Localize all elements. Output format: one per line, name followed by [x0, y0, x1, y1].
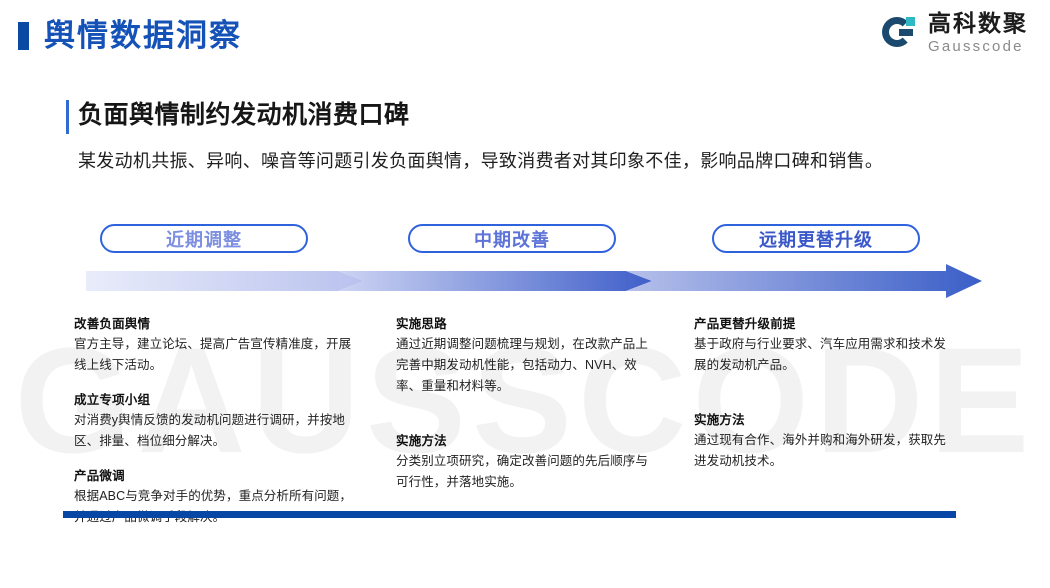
- logo-square-accent: [906, 17, 915, 26]
- timeline-arrow-svg: [86, 264, 982, 298]
- text-block: 实施思路 通过近期调整问题梳理与规划，在改款产品上完善中期发动机性能，包括动力、…: [396, 314, 658, 397]
- logo-name-cn: 高科数聚: [928, 12, 1028, 35]
- square-bullet-icon: [18, 22, 29, 50]
- subheadline: 某发动机共振、异响、噪音等问题引发负面舆情，导致消费者对其印象不佳，影响品牌口碑…: [78, 148, 883, 174]
- block-title: 改善负面舆情: [74, 314, 354, 334]
- column-near-term: 改善负面舆情 官方主导，建立论坛、提高广告宣传精准度，开展线上线下活动。 成立专…: [74, 314, 354, 542]
- headline-block: 负面舆情制约发动机消费口碑 某发动机共振、异响、噪音等问题引发负面舆情，导致消费…: [66, 98, 883, 174]
- block-spacer: [396, 411, 658, 431]
- footer-bar: [63, 511, 956, 518]
- block-title: 实施方法: [396, 431, 658, 451]
- headline-accent-rule: [66, 100, 69, 134]
- block-spacer: [694, 390, 956, 410]
- text-block: 产品微调 根据ABC与竞争对手的优势，重点分析所有问题，并通过产品微调手段解决。: [74, 466, 354, 528]
- block-title: 实施方法: [694, 410, 956, 430]
- logo-bar-shape: [899, 29, 913, 36]
- column-long-term: 产品更替升级前提 基于政府与行业要求、汽车应用需求和技术发展的发动机产品。 实施…: [694, 314, 956, 486]
- stage-pill-near-term[interactable]: 近期调整: [100, 224, 308, 253]
- stage-pill-long-term[interactable]: 远期更替升级: [712, 224, 920, 253]
- block-body: 对消费y舆情反馈的发动机问题进行调研，并按地区、排量、档位细分解决。: [74, 410, 354, 452]
- headline: 负面舆情制约发动机消费口碑: [78, 98, 883, 132]
- stage-pill-mid-term[interactable]: 中期改善: [408, 224, 616, 253]
- block-body: 基于政府与行业要求、汽车应用需求和技术发展的发动机产品。: [694, 334, 956, 376]
- right-arrow-timeline-icon: [86, 264, 982, 298]
- block-title: 成立专项小组: [74, 390, 354, 410]
- block-body: 根据ABC与竞争对手的优势，重点分析所有问题，并通过产品微调手段解决。: [74, 486, 354, 528]
- block-title: 产品更替升级前提: [694, 314, 956, 334]
- text-block: 实施方法 通过现有合作、海外并购和海外研发，获取先进发动机技术。: [694, 410, 956, 472]
- block-body: 分类别立项研究，确定改善问题的先后顺序与可行性，并落地实施。: [396, 451, 658, 493]
- brand-logo: 高科数聚 Gausscode: [882, 12, 1028, 54]
- block-body: 通过现有合作、海外并购和海外研发，获取先进发动机技术。: [694, 430, 956, 472]
- text-block: 产品更替升级前提 基于政府与行业要求、汽车应用需求和技术发展的发动机产品。: [694, 314, 956, 376]
- text-block: 改善负面舆情 官方主导，建立论坛、提高广告宣传精准度，开展线上线下活动。: [74, 314, 354, 376]
- block-body: 通过近期调整问题梳理与规划，在改款产品上完善中期发动机性能，包括动力、NVH、效…: [396, 334, 658, 397]
- logo-text: 高科数聚 Gausscode: [928, 12, 1028, 54]
- text-block: 成立专项小组 对消费y舆情反馈的发动机问题进行调研，并按地区、排量、档位细分解决…: [74, 390, 354, 452]
- block-title: 实施思路: [396, 314, 658, 334]
- block-body: 官方主导，建立论坛、提高广告宣传精准度，开展线上线下活动。: [74, 334, 354, 376]
- gausscode-logo-icon: [882, 14, 920, 52]
- block-title: 产品微调: [74, 466, 354, 486]
- logo-name-en: Gausscode: [928, 39, 1028, 54]
- text-block: 实施方法 分类别立项研究，确定改善问题的先后顺序与可行性，并落地实施。: [396, 431, 658, 493]
- column-mid-term: 实施思路 通过近期调整问题梳理与规划，在改款产品上完善中期发动机性能，包括动力、…: [396, 314, 658, 507]
- page-title: 舆情数据洞察: [44, 16, 242, 56]
